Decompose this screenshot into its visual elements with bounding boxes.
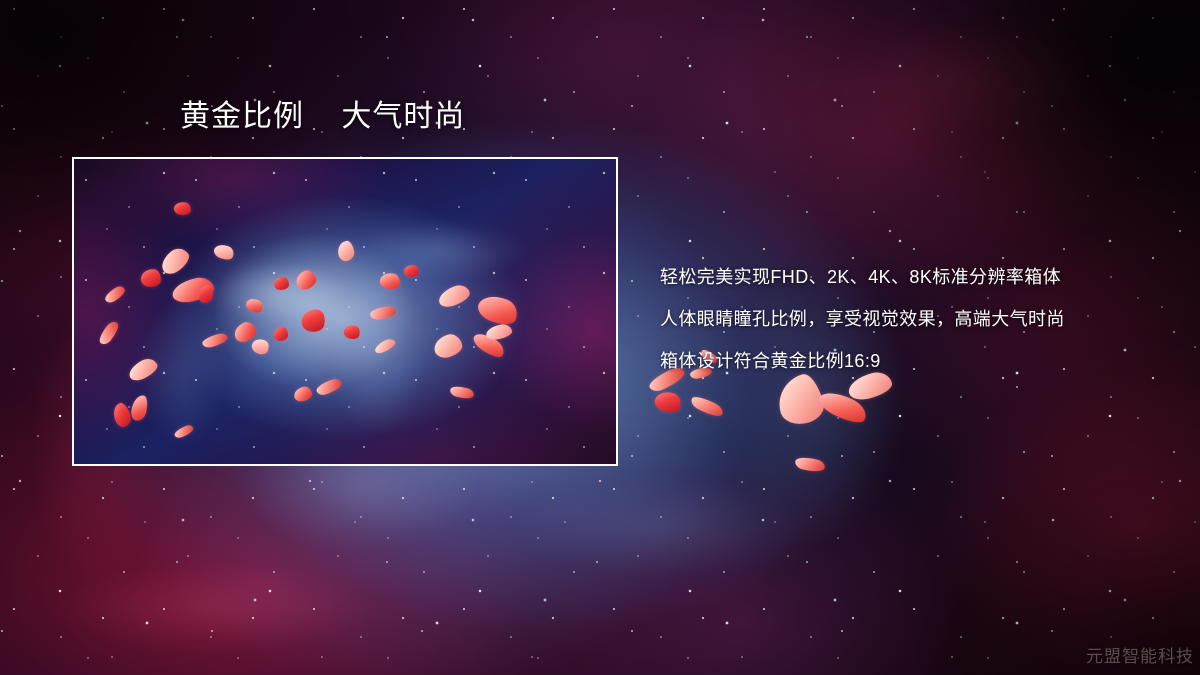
body-text-block: 轻松完美实现FHD、2K、4K、8K标准分辨率箱体 人体眼睛瞳孔比例，享受视觉效… bbox=[660, 256, 1130, 382]
presentation-slide: 黄金比例 大气时尚 轻松完美实现FHD、2K、4K、8K标准分辨率箱体 人体眼睛… bbox=[0, 0, 1200, 675]
company-watermark: 元盟智能科技 bbox=[1086, 642, 1194, 667]
petal-icon bbox=[274, 277, 289, 290]
body-line: 箱体设计符合黄金比例16:9 bbox=[660, 340, 1130, 382]
petal-icon bbox=[794, 455, 826, 475]
body-line: 轻松完美实现FHD、2K、4K、8K标准分辨率箱体 bbox=[660, 256, 1130, 298]
petal-icon bbox=[653, 388, 684, 415]
slide-title: 黄金比例 大气时尚 bbox=[180, 102, 465, 132]
frame-starfield bbox=[74, 159, 616, 464]
petal-icon bbox=[274, 327, 288, 341]
petal-icon bbox=[689, 393, 725, 420]
body-line: 人体眼睛瞳孔比例，享受视觉效果，高端大气时尚 bbox=[660, 298, 1130, 340]
framed-galaxy-photo bbox=[72, 157, 618, 466]
